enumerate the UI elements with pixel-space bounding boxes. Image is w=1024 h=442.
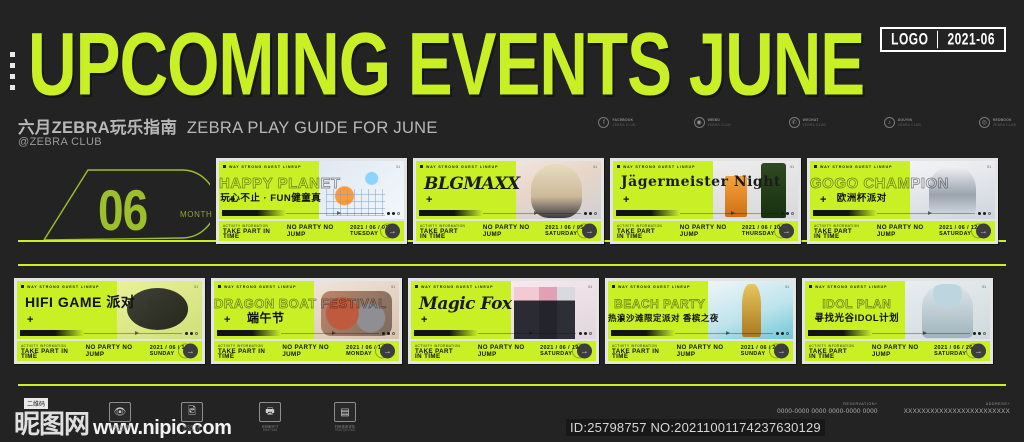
footer-reservation: RESERVATION+ 0000-0000 0000 0000-0000 00… xyxy=(777,402,878,415)
ticket-slogan: NO PARTY NO JUMP xyxy=(680,224,728,238)
ticket-topbar: WAY STRONG GUEST LINEUP 01 xyxy=(17,281,202,292)
weibo-icon: ◉ xyxy=(694,117,705,128)
address-label: ADDRESS+ xyxy=(986,402,1010,406)
subtitle-cn: 六月ZEBRA玩乐指南 xyxy=(18,119,177,137)
arrow-right-icon[interactable]: → xyxy=(774,344,789,359)
social-sublabel: ZEBRA CLUB xyxy=(708,123,731,127)
logo-divider xyxy=(937,30,938,48)
ticket-progress xyxy=(20,330,198,336)
ticket-artwork: WAY STRONG GUEST LINEUP 01 BEACH PARTY 热… xyxy=(608,281,793,339)
ticket-topbar-text: WAY STRONG GUEST LINEUP xyxy=(224,285,296,289)
ticket-stub: ACTIVITY INFORMATION TAKE PART IN TIME N… xyxy=(411,341,596,361)
ticket-topbar-index: 01 xyxy=(391,285,395,289)
ticket-slogan: NO PARTY NO JUMP xyxy=(287,224,336,238)
wechat-icon: ✆ xyxy=(789,117,800,128)
logo-date: 2021-06 xyxy=(947,30,995,49)
plus-icon: + xyxy=(27,315,33,326)
arrow-right-icon[interactable]: → xyxy=(971,344,986,359)
square-icon xyxy=(809,285,812,288)
ticket-stub: ACTIVITY INFORMATION TAKE PART IN TIME N… xyxy=(416,221,601,241)
ticket-slogan: NO PARTY NO JUMP xyxy=(86,344,136,358)
ticket-topbar: WAY STRONG GUEST LINEUP 01 xyxy=(219,161,404,172)
ticket-title-en: HAPPY PLANET xyxy=(219,176,323,192)
ticket-topbar-text: WAY STRONG GUEST LINEUP xyxy=(618,285,690,289)
plus-icon: + xyxy=(224,315,230,326)
ticket-progress xyxy=(419,210,597,216)
ticket-topbar-index: 01 xyxy=(790,165,794,169)
ticket-artwork: WAY STRONG GUEST LINEUP 01 HAPPY PLANET … xyxy=(219,161,404,219)
ticket-progress xyxy=(616,210,794,216)
plus-icon: + xyxy=(421,315,427,326)
ticket-title-en: BEACH PARTY xyxy=(608,296,712,312)
ticket-topbar-text: WAY STRONG GUEST LINEUP xyxy=(815,285,887,289)
arrow-right-icon[interactable]: → xyxy=(577,344,592,359)
ticket-artwork: WAY STRONG GUEST LINEUP 01 Magic Fox + xyxy=(411,281,596,339)
ticket-topbar-text: WAY STRONG GUEST LINEUP xyxy=(426,165,498,169)
plus-icon: + xyxy=(623,195,629,206)
ticket-stub: ACTIVITY INFORMATION TAKE PART IN TIME N… xyxy=(17,341,202,361)
ticket-title: BLGMAXX xyxy=(424,176,520,192)
ticket-row-1: WAY STRONG GUEST LINEUP 01 HAPPY PLANET … xyxy=(216,158,998,244)
ticket-topbar-index: 01 xyxy=(982,285,986,289)
footer-icon-print[interactable]: 🖶 可印刷尺寸 PRINT SIZE xyxy=(255,402,285,432)
square-icon xyxy=(617,165,620,168)
ticket-stub: ACTIVITY INFORMATION TAKE PART IN TIME N… xyxy=(613,221,798,241)
ticket-info-value: TAKE PART IN TIME xyxy=(223,229,271,239)
print-icon: 🖶 xyxy=(259,402,281,422)
dot-decoration xyxy=(10,52,15,90)
ticket-topbar-index: 01 xyxy=(785,285,789,289)
ticket-info-value: TAKE PART IN TIME xyxy=(612,349,661,359)
ticket-info-value: TAKE PART IN TIME xyxy=(415,349,462,359)
ticket-title: Jägermeister Night xyxy=(621,176,781,189)
arrow-right-icon[interactable]: → xyxy=(976,224,991,239)
divider-line-3 xyxy=(18,384,1006,386)
square-icon xyxy=(420,165,423,168)
ticket-title: Magic Fox xyxy=(419,296,512,312)
ticket-slogan: NO PARTY NO JUMP xyxy=(483,224,531,238)
plus-icon: + xyxy=(820,195,826,206)
ticket-title: HIFI GAME 派对 xyxy=(25,296,135,308)
footer-icon-qrcode[interactable]: ▤ 扫码查看详情 SCAN QR CODE xyxy=(330,402,360,432)
footer-icon-subcaption: PRINT SIZE xyxy=(255,429,285,432)
poster-canvas: UPCOMING EVENTS JUNE LOGO 2021-06 六月ZEBR… xyxy=(0,0,1024,442)
ticket-artwork: WAY STRONG GUEST LINEUP 01 GOGO CHAMPION… xyxy=(810,161,995,219)
ticket-progress xyxy=(611,330,789,336)
square-icon xyxy=(415,285,418,288)
preview-icon: 👁 xyxy=(109,402,131,422)
ticket-progress xyxy=(222,210,400,216)
qrcode-icon: ▤ xyxy=(334,402,356,422)
ticket-card[interactable]: WAY STRONG GUEST LINEUP 01 IDOL PLAN 寻找光… xyxy=(802,278,993,364)
ticket-artwork: WAY STRONG GUEST LINEUP 01 BLGMAXX + xyxy=(416,161,601,219)
footer-icon-subcaption: SOURCE FILE xyxy=(177,429,207,432)
reservation-label: RESERVATION+ xyxy=(843,402,877,406)
square-icon xyxy=(223,165,226,168)
ticket-topbar: WAY STRONG GUEST LINEUP 01 xyxy=(608,281,793,292)
ticket-row-2: WAY STRONG GUEST LINEUP 01 HIFI GAME 派对 … xyxy=(14,278,993,364)
ticket-topbar-text: WAY STRONG GUEST LINEUP xyxy=(229,165,301,169)
ticket-card[interactable]: WAY STRONG GUEST LINEUP 01 BEACH PARTY 热… xyxy=(605,278,796,364)
ticket-info-value: TAKE PART IN TIME xyxy=(218,349,266,359)
subtitle-en: ZEBRA PLAY GUIDE FOR JUNE xyxy=(187,119,438,137)
footer-icon-preview[interactable]: 👁 高清无水印图 PREVIEW xyxy=(105,402,135,432)
square-icon xyxy=(814,165,817,168)
social-item-wechat[interactable]: ✆ WECHATZEBRA CLUB xyxy=(789,117,826,128)
square-icon xyxy=(21,285,24,288)
square-icon xyxy=(218,285,221,288)
plus-icon: + xyxy=(815,315,821,326)
ticket-progress xyxy=(217,330,395,336)
logo-label: LOGO xyxy=(891,30,928,49)
ticket-title-en: DRAGON BOAT FESTIVAL xyxy=(214,296,318,312)
ticket-progress xyxy=(414,330,592,336)
ticket-stub: ACTIVITY INFORMATION TAKE PART IN TIME N… xyxy=(214,341,399,361)
ticket-card[interactable]: WAY STRONG GUEST LINEUP 01 HAPPY PLANET … xyxy=(216,158,407,244)
xiaohongshu-icon: ◎ xyxy=(979,117,990,128)
plus-icon: + xyxy=(618,315,624,326)
ticket-artwork: WAY STRONG GUEST LINEUP 01 Jägermeister … xyxy=(613,161,798,219)
ticket-topbar-index: 01 xyxy=(987,165,991,169)
ticket-topbar-text: WAY STRONG GUEST LINEUP xyxy=(421,285,493,289)
social-label: DOUYIN xyxy=(898,118,921,122)
ticket-topbar: WAY STRONG GUEST LINEUP 01 xyxy=(411,281,596,292)
social-sublabel: ZEBRA CLUB xyxy=(803,123,826,127)
ticket-title-en: IDOL PLAN xyxy=(805,296,909,312)
ticket-slogan: NO PARTY NO JUMP xyxy=(677,344,727,358)
ticket-card[interactable]: WAY STRONG GUEST LINEUP 01 Magic Fox + A… xyxy=(408,278,599,364)
social-sublabel: ZEBRA CLUB xyxy=(612,123,635,127)
reservation-value: 0000-0000 0000 0000-0000 0000 xyxy=(777,408,878,415)
plus-icon: + xyxy=(426,195,432,206)
ticket-slogan: NO PARTY NO JUMP xyxy=(282,344,332,358)
page-title: UPCOMING EVENTS JUNE xyxy=(28,12,864,115)
nipic-logo-cn: 昵图网 xyxy=(14,404,89,441)
logo-badge: LOGO 2021-06 xyxy=(880,27,1006,52)
social-links: f FACEBOOKZEBRA CLUB ◉ WEIBOZEBRA CLUB ✆… xyxy=(598,117,1016,128)
ticket-artwork: WAY STRONG GUEST LINEUP 01 IDOL PLAN 寻找光… xyxy=(805,281,990,339)
social-item-douyin[interactable]: ♪ DOUYINZEBRA CLUB xyxy=(884,117,921,128)
address-value: XXXXXXXXXXXXXXXXXXXXXXXX xyxy=(904,408,1010,415)
footer-icon-subcaption: SCAN QR CODE xyxy=(330,429,360,432)
ticket-topbar-text: WAY STRONG GUEST LINEUP xyxy=(27,285,99,289)
social-label: WEIBO xyxy=(708,118,731,122)
ticket-slogan: NO PARTY NO JUMP xyxy=(478,344,526,358)
ticket-topbar: WAY STRONG GUEST LINEUP 01 xyxy=(810,161,995,172)
arrow-right-icon[interactable]: → xyxy=(183,344,198,359)
ticket-topbar: WAY STRONG GUEST LINEUP 01 xyxy=(416,161,601,172)
square-icon xyxy=(612,285,615,288)
plus-icon: + xyxy=(229,195,235,206)
ticket-stub: ACTIVITY INFORMATION TAKE PART IN TIME N… xyxy=(810,221,995,241)
ticket-progress xyxy=(808,330,986,336)
ticket-info-value: TAKE PART IN TIME xyxy=(617,229,664,239)
social-label: FACEBOOK xyxy=(612,118,635,122)
ticket-title-cn: HIFI GAME 派对 xyxy=(25,297,135,308)
ticket-topbar: WAY STRONG GUEST LINEUP 01 xyxy=(805,281,990,292)
social-handle: @ZEBRA CLUB xyxy=(18,136,102,148)
ticket-slogan: NO PARTY NO JUMP xyxy=(877,224,925,238)
footer-icon-source[interactable]: 🖻 源文件下载 SOURCE FILE xyxy=(177,402,207,432)
douyin-icon: ♪ xyxy=(884,117,895,128)
ticket-card[interactable]: WAY STRONG GUEST LINEUP 01 GOGO CHAMPION… xyxy=(807,158,998,244)
ticket-progress xyxy=(813,210,991,216)
ticket-title-en: BLGMAXX xyxy=(424,176,520,192)
watermark-id: ID:25798757 NO:20211001174237630129 xyxy=(566,419,825,436)
ticket-stub: ACTIVITY INFORMATION TAKE PART IN TIME N… xyxy=(608,341,793,361)
ticket-slogan: NO PARTY NO JUMP xyxy=(872,344,920,358)
arrow-right-icon[interactable]: → xyxy=(380,344,395,359)
ticket-topbar: WAY STRONG GUEST LINEUP 01 xyxy=(613,161,798,172)
month-badge: 06 MONTH xyxy=(42,166,210,242)
ticket-info-value: TAKE PART IN TIME xyxy=(420,229,467,239)
social-item-facebook[interactable]: f FACEBOOKZEBRA CLUB xyxy=(598,117,635,128)
footer-address: ADDRESS+ XXXXXXXXXXXXXXXXXXXXXXXX xyxy=(904,402,1010,415)
ticket-stub: ACTIVITY INFORMATION TAKE PART IN TIME N… xyxy=(805,341,990,361)
arrow-right-icon[interactable]: → xyxy=(385,224,400,239)
ticket-artwork: WAY STRONG GUEST LINEUP 01 DRAGON BOAT F… xyxy=(214,281,399,339)
footer-icon-subcaption: PREVIEW xyxy=(105,429,135,432)
ticket-topbar-index: 01 xyxy=(396,165,400,169)
ticket-topbar-text: WAY STRONG GUEST LINEUP xyxy=(623,165,695,169)
ticket-info-value: TAKE PART IN TIME xyxy=(21,349,70,359)
ticket-topbar: WAY STRONG GUEST LINEUP 01 xyxy=(214,281,399,292)
ticket-title-en: GOGO CHAMPION xyxy=(810,176,914,192)
month-label: MONTH xyxy=(180,210,212,219)
facebook-icon: f xyxy=(598,117,609,128)
month-number: 06 xyxy=(98,176,147,244)
ticket-title-en: Magic Fox xyxy=(419,296,512,312)
ticket-title-en: Jägermeister Night xyxy=(621,176,781,189)
ticket-artwork: WAY STRONG GUEST LINEUP 01 HIFI GAME 派对 … xyxy=(17,281,202,339)
ticket-topbar-index: 01 xyxy=(593,165,597,169)
social-label: REDBOOK xyxy=(993,118,1016,122)
social-item-weibo[interactable]: ◉ WEIBOZEBRA CLUB xyxy=(694,117,731,128)
ticket-info-value: TAKE PART IN TIME xyxy=(814,229,861,239)
ticket-topbar-text: WAY STRONG GUEST LINEUP xyxy=(820,165,892,169)
social-sublabel: ZEBRA CLUB xyxy=(993,123,1016,127)
social-sublabel: ZEBRA CLUB xyxy=(898,123,921,127)
ticket-card[interactable]: WAY STRONG GUEST LINEUP 01 HIFI GAME 派对 … xyxy=(14,278,205,364)
divider-line-2 xyxy=(18,264,1006,266)
source-file-icon: 🖻 xyxy=(181,402,203,422)
ticket-topbar-index: 01 xyxy=(194,285,198,289)
social-item-redbook[interactable]: ◎ REDBOOKZEBRA CLUB xyxy=(979,117,1016,128)
subtitle: 六月ZEBRA玩乐指南 ZEBRA PLAY GUIDE FOR JUNE xyxy=(18,114,438,138)
social-label: WECHAT xyxy=(803,118,826,122)
ticket-card[interactable]: WAY STRONG GUEST LINEUP 01 BLGMAXX + ACT… xyxy=(413,158,604,244)
ticket-card[interactable]: WAY STRONG GUEST LINEUP 01 DRAGON BOAT F… xyxy=(211,278,402,364)
arrow-right-icon[interactable]: → xyxy=(779,224,794,239)
arrow-right-icon[interactable]: → xyxy=(582,224,597,239)
ticket-info-value: TAKE PART IN TIME xyxy=(809,349,856,359)
ticket-stub: ACTIVITY INFORMATION TAKE PART IN TIME N… xyxy=(219,221,404,241)
footer-contact: RESERVATION+ 0000-0000 0000 0000-0000 00… xyxy=(777,402,1010,415)
ticket-topbar-index: 01 xyxy=(588,285,592,289)
ticket-card[interactable]: WAY STRONG GUEST LINEUP 01 Jägermeister … xyxy=(610,158,801,244)
